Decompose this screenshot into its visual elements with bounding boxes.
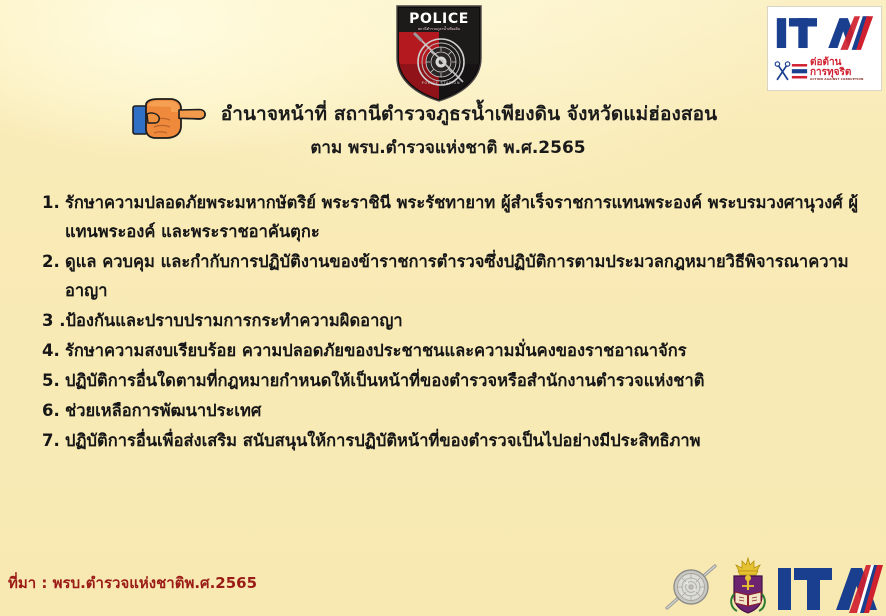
list-item-number: 6. xyxy=(42,396,65,425)
list-item-number: 5. xyxy=(42,366,65,395)
list-item-number: 7. xyxy=(42,426,65,455)
svg-text:สถานีตำรวจภูธรน้ำเพียงดิน: สถานีตำรวจภูธรน้ำเพียงดิน xyxy=(418,26,461,31)
royal-crest-emblem xyxy=(726,556,770,616)
authority-list: 1. รักษาความปลอดภัยพระมหากษัตริย์ พระราช… xyxy=(42,188,862,456)
list-item-text: ปฏิบัติการอื่นเพื่อส่งเสริม สนับสนุนให้ก… xyxy=(65,426,862,455)
list-item-number: 2. xyxy=(42,247,65,276)
ita-tagline: ต่อต้าน การทุจริต ACTION AGAINST CORRUPT… xyxy=(774,55,875,85)
list-item-number: 1. xyxy=(42,188,65,217)
list-item-number: 3 . xyxy=(42,306,66,335)
police-seal-emblem xyxy=(662,558,720,616)
list-item: 2. ดูแล ควบคุม และกำกับการปฏิบัติงานของข… xyxy=(42,247,862,305)
slide-canvas: POLICE สถานีตำรวจภูธรน้ำเพียงดิน POLICE … xyxy=(0,0,886,616)
list-item-text: ช่วยเหลือการพัฒนาประเทศ xyxy=(65,396,862,425)
ita-logo xyxy=(776,560,884,616)
ita-tagline-line3: ACTION AGAINST CORRUPTION xyxy=(810,78,875,81)
footer-logos xyxy=(662,550,884,616)
list-item: 4. รักษาความสงบเรียบร้อย ความปลอดภัยของป… xyxy=(42,336,862,365)
list-item: 7. ปฏิบัติการอื่นเพื่อส่งเสริม สนับสนุนใ… xyxy=(42,426,862,455)
svg-text:POLICE STATION: POLICE STATION xyxy=(422,81,461,85)
list-item-text: ป้องกันและปราบปรามการกระทำความผิดอาญา xyxy=(66,306,863,335)
svg-text:POLICE: POLICE xyxy=(409,11,469,27)
ita-logo: ต่อต้าน การทุจริต ACTION AGAINST CORRUPT… xyxy=(767,6,882,91)
ita-wordmark xyxy=(774,13,875,55)
list-item: 1. รักษาความปลอดภัยพระมหากษัตริย์ พระราช… xyxy=(42,188,862,246)
pointing-hand-right-icon xyxy=(131,92,207,144)
list-item-text: ปฏิบัติการอื่นใดตามที่กฎหมายกำหนดให้เป็น… xyxy=(65,366,862,395)
list-item-text: รักษาความปลอดภัยพระมหากษัตริย์ พระราชินี… xyxy=(65,188,862,246)
list-item-number: 4. xyxy=(42,336,65,365)
list-item: 3 . ป้องกันและปราบปรามการกระทำความผิดอาญ… xyxy=(42,306,862,335)
list-item: 5. ปฏิบัติการอื่นใดตามที่กฎหมายกำหนดให้เ… xyxy=(42,366,862,395)
list-item: 6. ช่วยเหลือการพัฒนาประเทศ xyxy=(42,396,862,425)
police-shield-badge: POLICE สถานีตำรวจภูธรน้ำเพียงดิน POLICE … xyxy=(393,2,485,102)
list-item-text: ดูแล ควบคุม และกำกับการปฏิบัติงานของข้าร… xyxy=(65,247,862,305)
list-item-text: รักษาความสงบเรียบร้อย ความปลอดภัยของประช… xyxy=(65,336,862,365)
source-note: ที่มา : พรบ.ตำรวจแห่งชาติพ.ศ.2565 xyxy=(8,571,257,595)
